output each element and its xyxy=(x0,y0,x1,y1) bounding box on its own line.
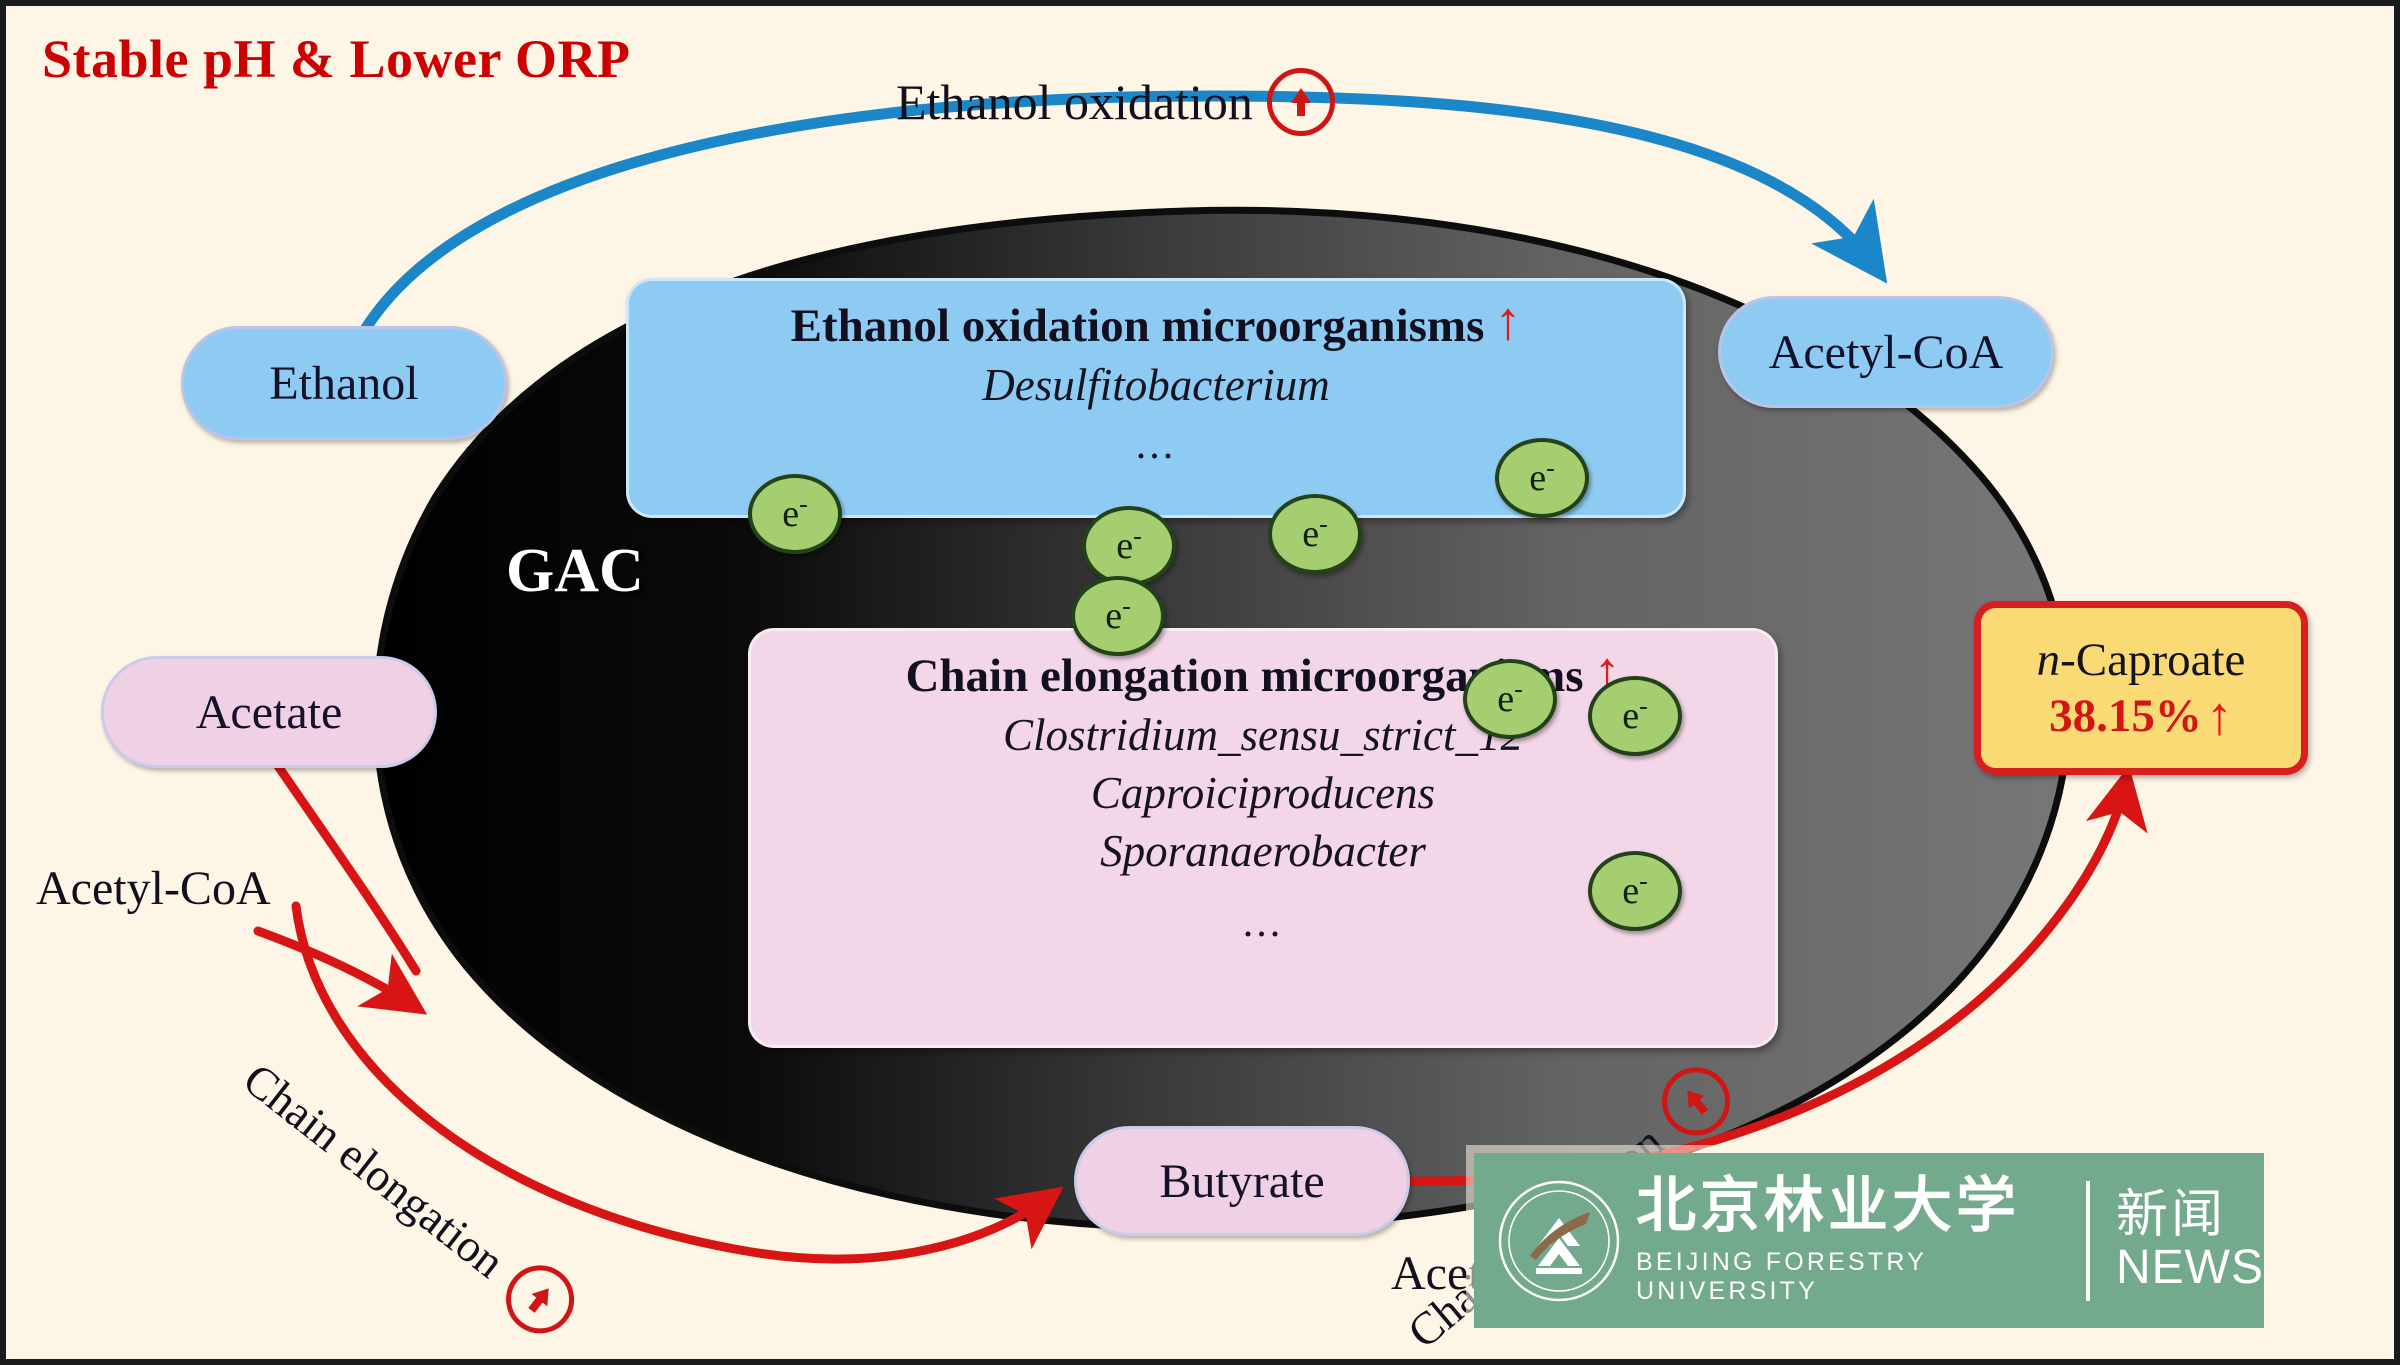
ethanol-oxidation-title-row: Ethanol oxidation microorganisms ↑ xyxy=(791,299,1522,353)
university-name-cn: 北京林业大学 xyxy=(1636,1176,2060,1236)
n-caproate-name-rest: -Caproate xyxy=(2060,634,2245,686)
university-emblem-icon xyxy=(1496,1178,1622,1304)
node-ethanol[interactable]: Ethanol xyxy=(181,326,507,440)
node-ethanol-label: Ethanol xyxy=(269,356,418,411)
page-title: Stable pH & Lower ORP xyxy=(42,28,631,90)
node-acetyl-coa-label: Acetyl-CoA xyxy=(1769,325,2004,380)
electron-bubble: e- xyxy=(1268,494,1362,574)
ethanol-oxidation-species-0: Desulfitobacterium xyxy=(982,359,1329,411)
n-caproate-prefix: n xyxy=(2037,634,2061,686)
n-caproate-label: n-Caproate xyxy=(2037,633,2246,687)
chain-elongation-species-2: Sporanaerobacter xyxy=(1100,825,1426,877)
watermark-section-cn: 新闻 xyxy=(2116,1188,2264,1243)
watermark-divider xyxy=(2086,1181,2090,1301)
ethanol-oxidation-ellipsis: ... xyxy=(1136,421,1177,469)
watermark-banner: 北京林业大学 BEIJING FORESTRY UNIVERSITY 新闻 NE… xyxy=(1474,1153,2264,1328)
electron-symbol: e- xyxy=(782,492,808,536)
node-n-caproate[interactable]: n-Caproate 38.15% ↑ xyxy=(1974,601,2308,775)
node-butyrate-label: Butyrate xyxy=(1159,1154,1324,1209)
gac-label: GAC xyxy=(506,536,644,607)
university-name-en: BEIJING FORESTRY UNIVERSITY xyxy=(1636,1248,2060,1306)
electron-symbol: e- xyxy=(1622,869,1648,913)
path-label-acetyl-coa-left: Acetyl-CoA xyxy=(36,861,271,916)
n-caproate-value-row: 38.15% ↑ xyxy=(2049,689,2233,743)
electron-bubble: e- xyxy=(1082,506,1176,586)
chain-elongation-species-1: Caproiciproducens xyxy=(1091,767,1435,819)
n-caproate-value: 38.15% xyxy=(2049,689,2202,743)
electron-bubble: e- xyxy=(1588,676,1682,756)
electron-bubble: e- xyxy=(748,474,842,554)
up-arrow-icon: ↑ xyxy=(1494,299,1521,343)
electron-symbol: e- xyxy=(1116,524,1142,568)
electron-symbol: e- xyxy=(1622,694,1648,738)
electron-symbol: e- xyxy=(1302,512,1328,556)
electron-bubble: e- xyxy=(1588,851,1682,931)
circled-up-arrow-icon xyxy=(1267,68,1335,136)
electron-bubble: e- xyxy=(1495,438,1589,518)
ethanol-oxidation-title: Ethanol oxidation microorganisms xyxy=(791,299,1485,353)
node-acetyl-coa[interactable]: Acetyl-CoA xyxy=(1718,296,2054,408)
watermark-section-block: 新闻 NEWS xyxy=(2116,1188,2264,1293)
chain-elongation-species-0: Clostridium_sensu_strict_12 xyxy=(1003,709,1523,761)
electron-symbol: e- xyxy=(1497,677,1523,721)
university-name-block: 北京林业大学 BEIJING FORESTRY UNIVERSITY xyxy=(1636,1176,2060,1306)
electron-bubble: e- xyxy=(1463,659,1557,739)
arrow-acetylcoa-left xyxy=(258,931,414,1006)
electron-symbol: e- xyxy=(1529,456,1555,500)
node-acetate[interactable]: Acetate xyxy=(101,656,437,768)
watermark-section-en: NEWS xyxy=(2116,1243,2264,1293)
electron-bubble: e- xyxy=(1071,576,1165,656)
electron-symbol: e- xyxy=(1105,594,1131,638)
up-arrow-icon: ↑ xyxy=(2206,694,2233,738)
path-label-ethanol-oxidation-text: Ethanol oxidation xyxy=(896,73,1253,131)
node-butyrate[interactable]: Butyrate xyxy=(1074,1126,1410,1236)
diagram-canvas: Stable pH & Lower ORP GAC Ethanol Acetat… xyxy=(0,0,2400,1365)
chain-elongation-ellipsis: ... xyxy=(1243,899,1284,947)
path-label-ethanol-oxidation: Ethanol oxidation xyxy=(896,68,1335,136)
node-acetate-label: Acetate xyxy=(196,685,343,740)
